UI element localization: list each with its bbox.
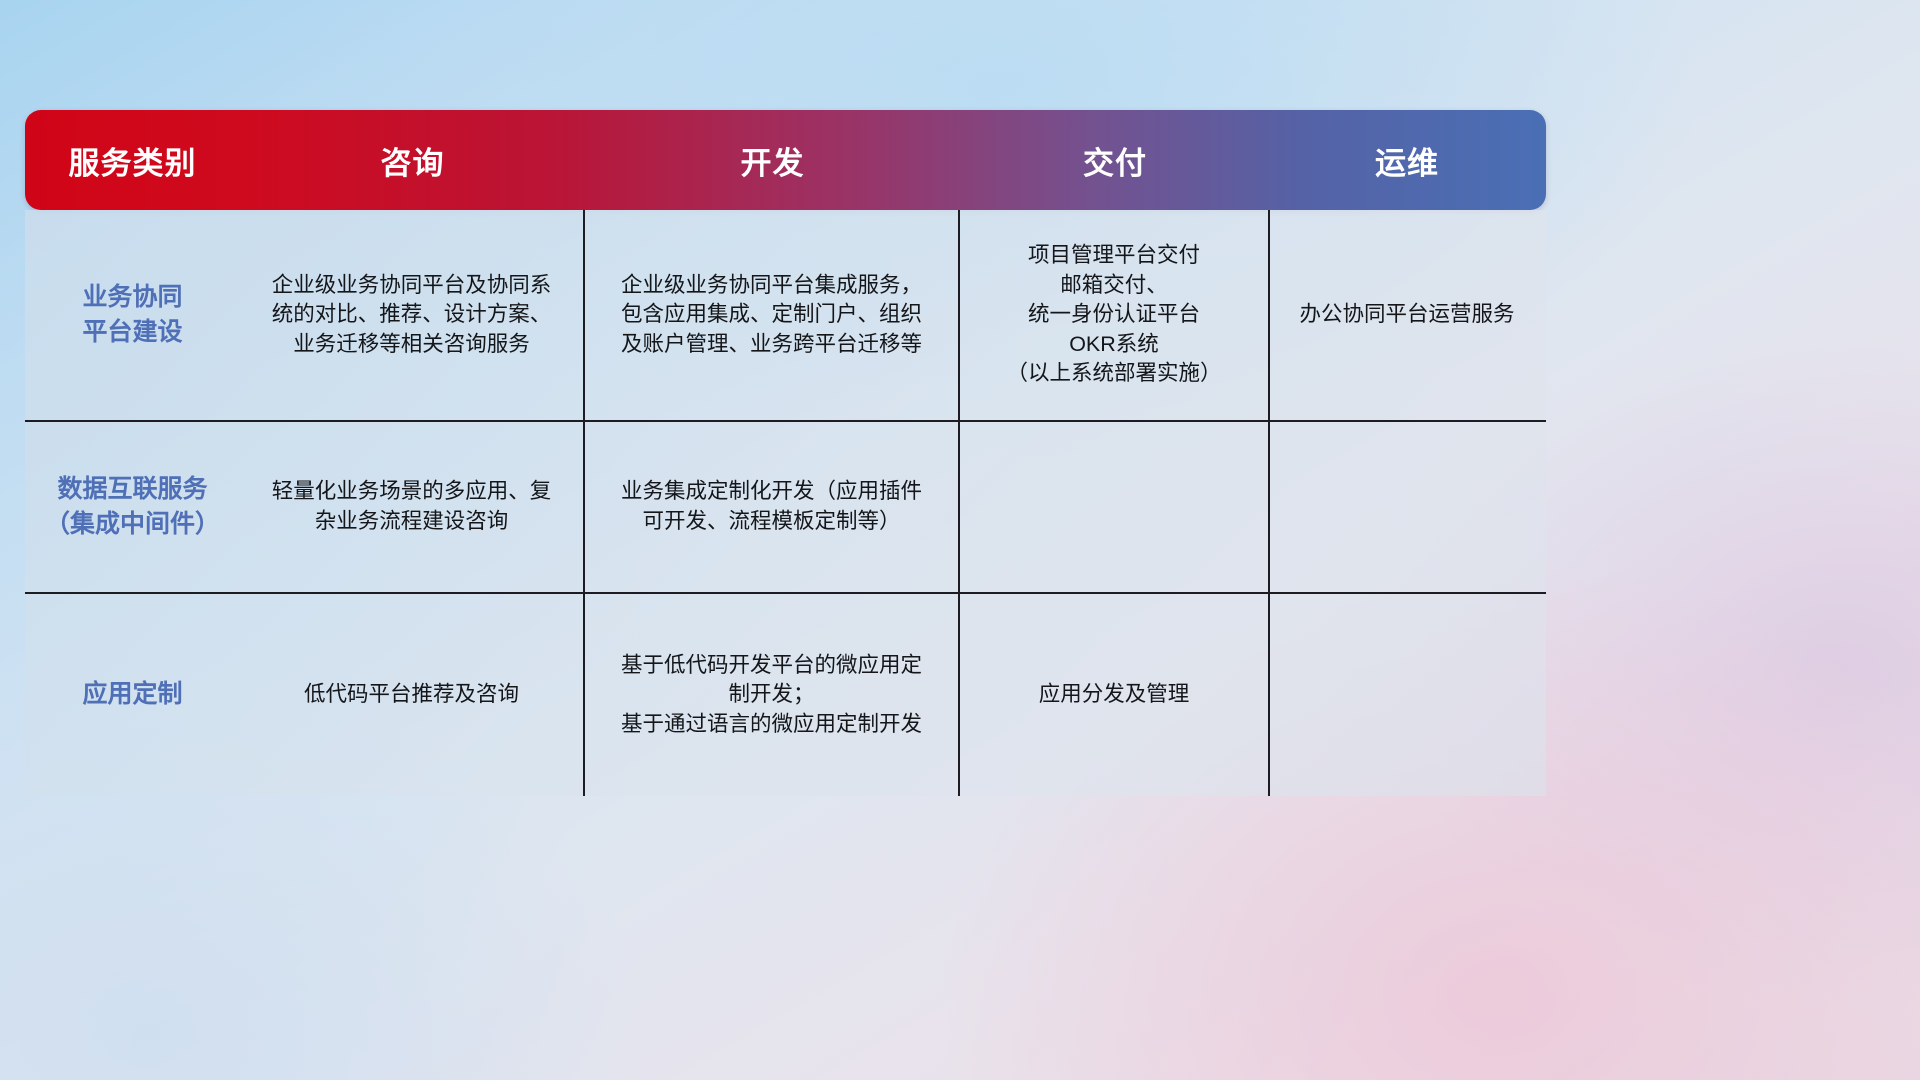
table-row: 应用定制 低代码平台推荐及咨询 基于低代码开发平台的微应用定 制开发； 基于通过… xyxy=(25,594,1546,796)
cell-operations xyxy=(1270,422,1544,592)
service-matrix-table: 服务类别 咨询 开发 交付 运维 业务协同 平台建设 企业级业务协同平台及协同系… xyxy=(25,110,1546,780)
cell-delivery: 项目管理平台交付 邮箱交付、 统一身份认证平台 OKR系统 （以上系统部署实施） xyxy=(960,210,1270,420)
column-header-service-category: 服务类别 xyxy=(25,138,240,183)
cell-development: 企业级业务协同平台集成服务， 包含应用集成、定制门户、组织 及账户管理、业务跨平… xyxy=(585,210,960,420)
column-header-operations: 运维 xyxy=(1270,138,1544,183)
cell-consulting: 企业级业务协同平台及协同系 统的对比、推荐、设计方案、 业务迁移等相关咨询服务 xyxy=(240,210,585,420)
table-body: 业务协同 平台建设 企业级业务协同平台及协同系 统的对比、推荐、设计方案、 业务… xyxy=(25,210,1546,796)
table-header-row: 服务类别 咨询 开发 交付 运维 xyxy=(25,110,1546,210)
cell-development: 业务集成定制化开发（应用插件 可开发、流程模板定制等） xyxy=(585,422,960,592)
cell-delivery xyxy=(960,422,1270,592)
row-category-label: 应用定制 xyxy=(25,594,240,796)
cell-consulting: 轻量化业务场景的多应用、复 杂业务流程建设咨询 xyxy=(240,422,585,592)
cell-consulting: 低代码平台推荐及咨询 xyxy=(240,594,585,796)
cell-development: 基于低代码开发平台的微应用定 制开发； 基于通过语言的微应用定制开发 xyxy=(585,594,960,796)
table-row: 业务协同 平台建设 企业级业务协同平台及协同系 统的对比、推荐、设计方案、 业务… xyxy=(25,210,1546,422)
row-category-label: 业务协同 平台建设 xyxy=(25,210,240,420)
cell-operations xyxy=(1270,594,1544,796)
cell-operations: 办公协同平台运营服务 xyxy=(1270,210,1544,420)
column-header-consulting: 咨询 xyxy=(240,138,585,183)
column-header-development: 开发 xyxy=(585,138,960,183)
cell-delivery: 应用分发及管理 xyxy=(960,594,1270,796)
row-category-label: 数据互联服务 （集成中间件） xyxy=(25,422,240,592)
column-header-delivery: 交付 xyxy=(960,138,1270,183)
table-row: 数据互联服务 （集成中间件） 轻量化业务场景的多应用、复 杂业务流程建设咨询 业… xyxy=(25,422,1546,594)
